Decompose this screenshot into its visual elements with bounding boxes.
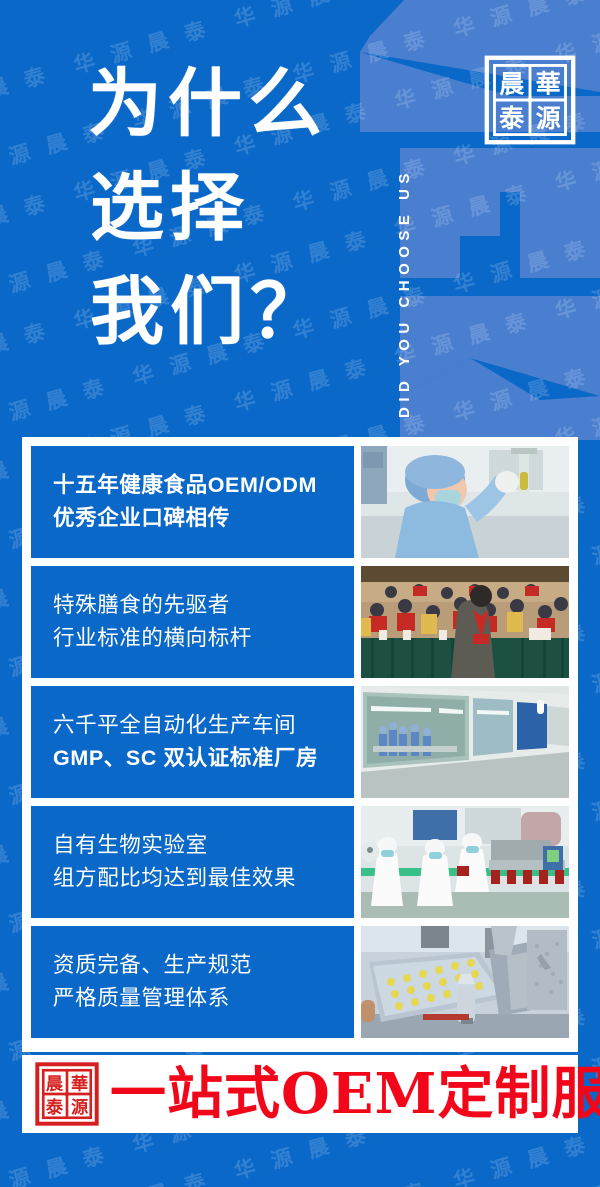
benefit-3-line-1: 六千平全自动化生产车间 <box>53 709 354 742</box>
svg-text:晨: 晨 <box>46 1074 64 1094</box>
svg-text:華: 華 <box>536 69 561 98</box>
benefits-frame: 十五年健康食品OEM/ODM 优秀企业口碑相传 <box>22 437 578 1052</box>
footer-banner: 晨 華 泰 源 一站式OEM定制服务 <box>22 1055 578 1133</box>
poster-root: 为什么 选择 我们？ DID YOU CHOOSE US 晨 華 泰 源 <box>0 0 600 1187</box>
headline-line-1: 为什么 <box>88 52 330 156</box>
benefit-3-line-2: GMP、SC 双认证标准厂房 <box>53 742 354 775</box>
company-seal-stamp-white: 晨 華 泰 源 <box>482 52 578 148</box>
svg-text:源: 源 <box>536 104 561 133</box>
watermark-row: 华 源 晨 泰华 源 晨 泰华 源 晨 泰华 源 晨 泰华 源 晨 泰华 源 晨… <box>0 1128 592 1187</box>
photo-cleanroom-corridor-glass-windows <box>361 686 569 798</box>
footer-headline: 一站式OEM定制服务 <box>110 1064 600 1124</box>
benefit-5-line-1: 资质完备、生产规范 <box>53 949 354 982</box>
watermark-text: 华 源 晨 泰 <box>450 1128 594 1187</box>
list-item[interactable]: 资质完备、生产规范 严格质量管理体系 <box>31 926 569 1038</box>
watermark-text: 华 源 晨 泰 <box>289 1174 433 1187</box>
list-item[interactable]: 十五年健康食品OEM/ODM 优秀企业口碑相传 <box>31 446 569 558</box>
benefit-card-3: 六千平全自动化生产车间 GMP、SC 双认证标准厂房 <box>31 686 354 798</box>
watermark-text: 华 源 晨 泰 <box>0 1138 112 1187</box>
list-item[interactable]: 自有生物实验室 组方配比均达到最佳效果 <box>31 806 569 918</box>
watermark-text: 华 源 晨 泰 <box>551 1154 600 1187</box>
photo-conference-audience-red-scarves <box>361 566 569 678</box>
page-title: 为什么 选择 我们？ <box>88 52 330 364</box>
svg-text:源: 源 <box>71 1097 89 1118</box>
company-seal-stamp-red: 晨 華 泰 源 <box>34 1061 100 1127</box>
headline-line-2: 选择 <box>88 156 330 260</box>
vertical-tagline: DID YOU CHOOSE US <box>396 18 413 418</box>
svg-text:華: 華 <box>71 1074 88 1094</box>
list-item[interactable]: 六千平全自动化生产车间 GMP、SC 双认证标准厂房 <box>31 686 569 798</box>
benefit-card-1: 十五年健康食品OEM/ODM 优秀企业口碑相传 <box>31 446 354 558</box>
benefit-2-line-1: 特殊膳食的先驱者 <box>53 589 354 622</box>
svg-text:泰: 泰 <box>499 104 525 133</box>
benefit-1-line-1: 十五年健康食品OEM/ODM <box>53 469 354 502</box>
photo-lab-technician-blue-scrubs <box>361 446 569 558</box>
benefits-list: 十五年健康食品OEM/ODM 优秀企业口碑相传 <box>22 446 578 1047</box>
benefit-card-4: 自有生物实验室 组方配比均达到最佳效果 <box>31 806 354 918</box>
watermark-text: 华 源 晨 泰 <box>70 1164 214 1187</box>
benefit-card-2: 特殊膳食的先驱者 行业标准的横向标杆 <box>31 566 354 678</box>
photo-white-coat-workers-production-line <box>361 806 569 918</box>
benefit-2-line-2: 行业标准的横向标杆 <box>53 622 354 655</box>
headline-line-3: 我们？ <box>88 260 330 364</box>
photo-blister-packing-machine-yellow-capsules <box>361 926 569 1038</box>
list-item[interactable]: 特殊膳食的先驱者 行业标准的横向标杆 <box>31 566 569 678</box>
benefit-1-line-2: 优秀企业口碑相传 <box>53 502 354 535</box>
header-section: 为什么 选择 我们？ DID YOU CHOOSE US 晨 華 泰 源 <box>0 0 600 437</box>
svg-text:泰: 泰 <box>45 1097 64 1118</box>
benefit-4-line-1: 自有生物实验室 <box>53 829 354 862</box>
svg-text:晨: 晨 <box>499 69 525 98</box>
benefit-card-5: 资质完备、生产规范 严格质量管理体系 <box>31 926 354 1038</box>
benefit-4-line-2: 组方配比均达到最佳效果 <box>53 862 354 895</box>
benefit-5-line-2: 严格质量管理体系 <box>53 982 354 1015</box>
